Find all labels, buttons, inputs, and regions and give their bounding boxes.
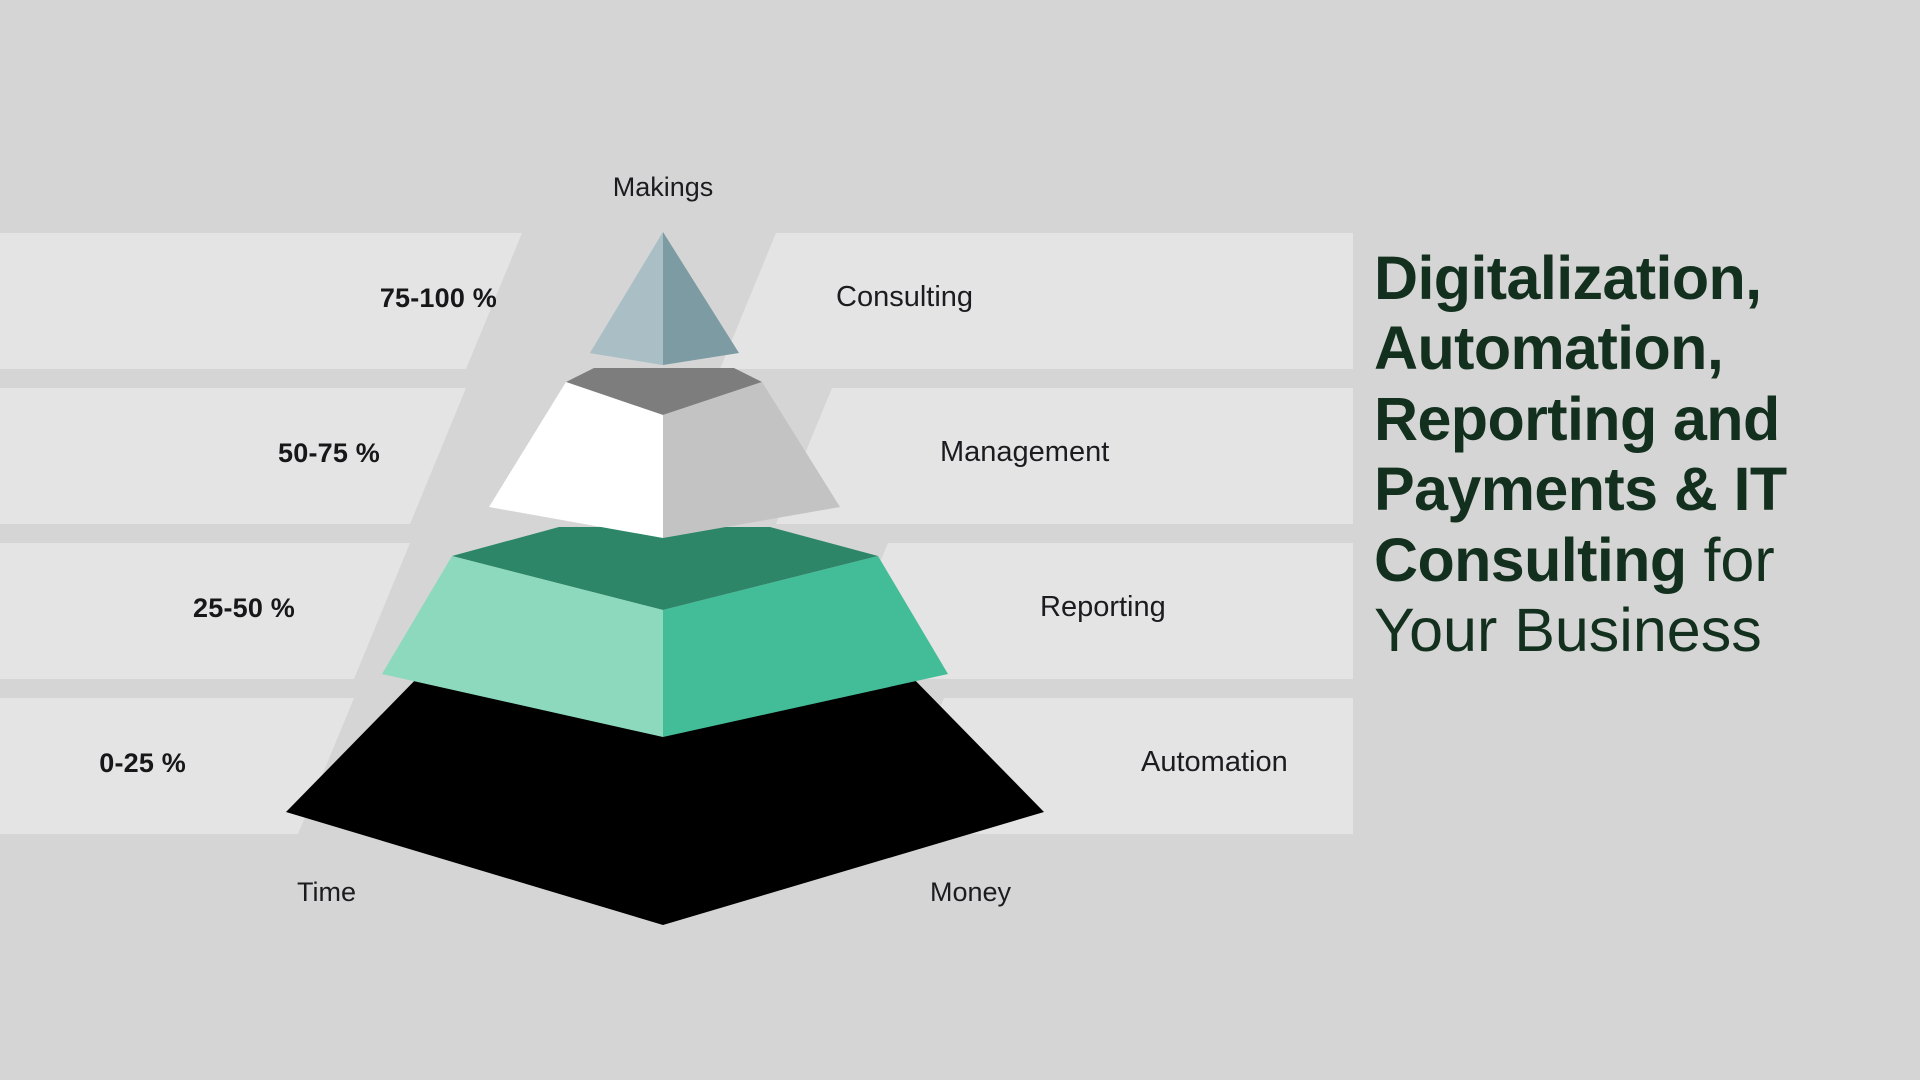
percent-label-0-25: 0-25 % — [99, 748, 186, 779]
headline-block: Digitalization, Automation, Reporting an… — [1374, 243, 1904, 666]
percent-label-50-75: 50-75 % — [278, 438, 380, 469]
left-banner-2 — [0, 388, 466, 524]
headline-text: Digitalization, Automation, Reporting an… — [1374, 243, 1904, 666]
axis-label-money: Money — [930, 877, 1011, 908]
category-label-automation: Automation — [1141, 746, 1288, 779]
category-label-management: Management — [940, 436, 1109, 469]
percent-label-25-50: 25-50 % — [193, 593, 295, 624]
axis-label-time: Time — [297, 877, 356, 908]
tier1-right-face — [663, 232, 739, 365]
category-label-reporting: Reporting — [1040, 591, 1166, 624]
pyramid-tier-1-consulting — [590, 232, 739, 365]
infographic-canvas: Makings 75-100 % 50-75 % 25-50 % 0-25 % … — [0, 0, 1920, 1080]
tier1-left-wing — [590, 232, 663, 365]
pyramid-tier-2-management — [489, 368, 840, 538]
pyramid-apex-label: Makings — [613, 172, 714, 203]
right-banner-1 — [720, 233, 1353, 369]
category-label-consulting: Consulting — [836, 281, 973, 314]
percent-label-75-100: 75-100 % — [380, 283, 497, 314]
